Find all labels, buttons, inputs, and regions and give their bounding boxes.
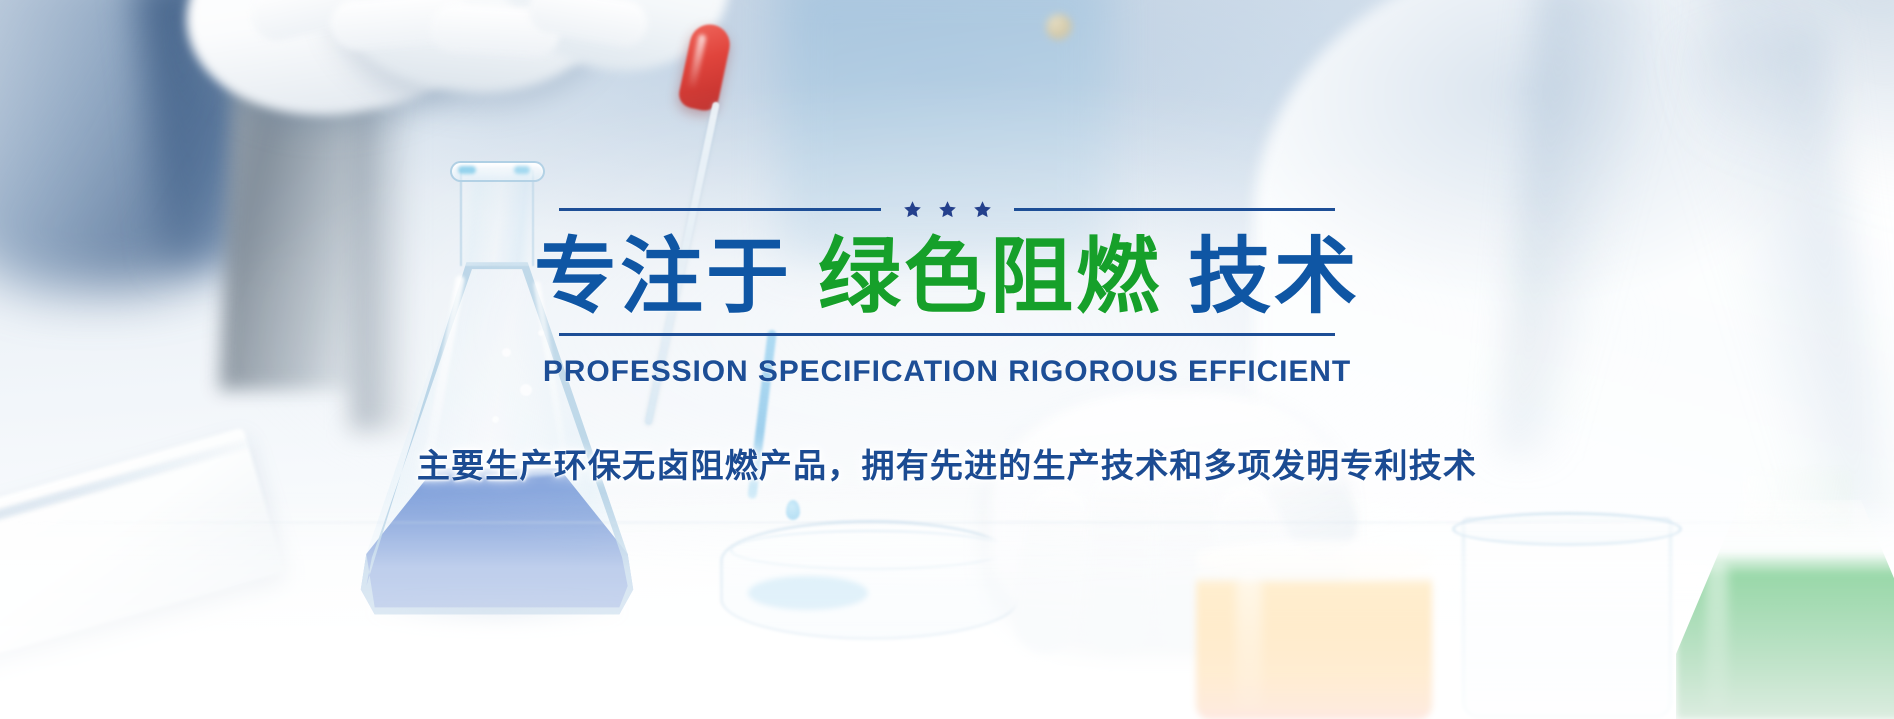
- tagline-chinese: 主要生产环保无卤阻燃产品，拥有先进的生产技术和多项发明专利技术: [417, 439, 1477, 487]
- decorative-rule-row: [559, 196, 1335, 222]
- star-icon: [903, 200, 922, 219]
- hero-banner: 专注于绿色阻燃技术 PROFESSION SPECIFICATION RIGOR…: [0, 0, 1894, 719]
- star-icon: [938, 200, 957, 219]
- headline-part-3: 技术: [1188, 230, 1360, 323]
- star-icon: [973, 200, 992, 219]
- subtitle-english: PROFESSION SPECIFICATION RIGOROUS EFFICI…: [543, 355, 1351, 389]
- headline-part-1: 专注于: [534, 230, 792, 323]
- divider-line-right: [1014, 208, 1336, 211]
- headline-underline: [559, 333, 1335, 336]
- headline: 专注于绿色阻燃技术: [534, 234, 1360, 320]
- banner-content: 专注于绿色阻燃技术 PROFESSION SPECIFICATION RIGOR…: [0, 0, 1894, 719]
- headline-part-2: 绿色阻燃: [818, 230, 1162, 323]
- divider-line-left: [559, 208, 881, 211]
- star-group: [903, 200, 992, 219]
